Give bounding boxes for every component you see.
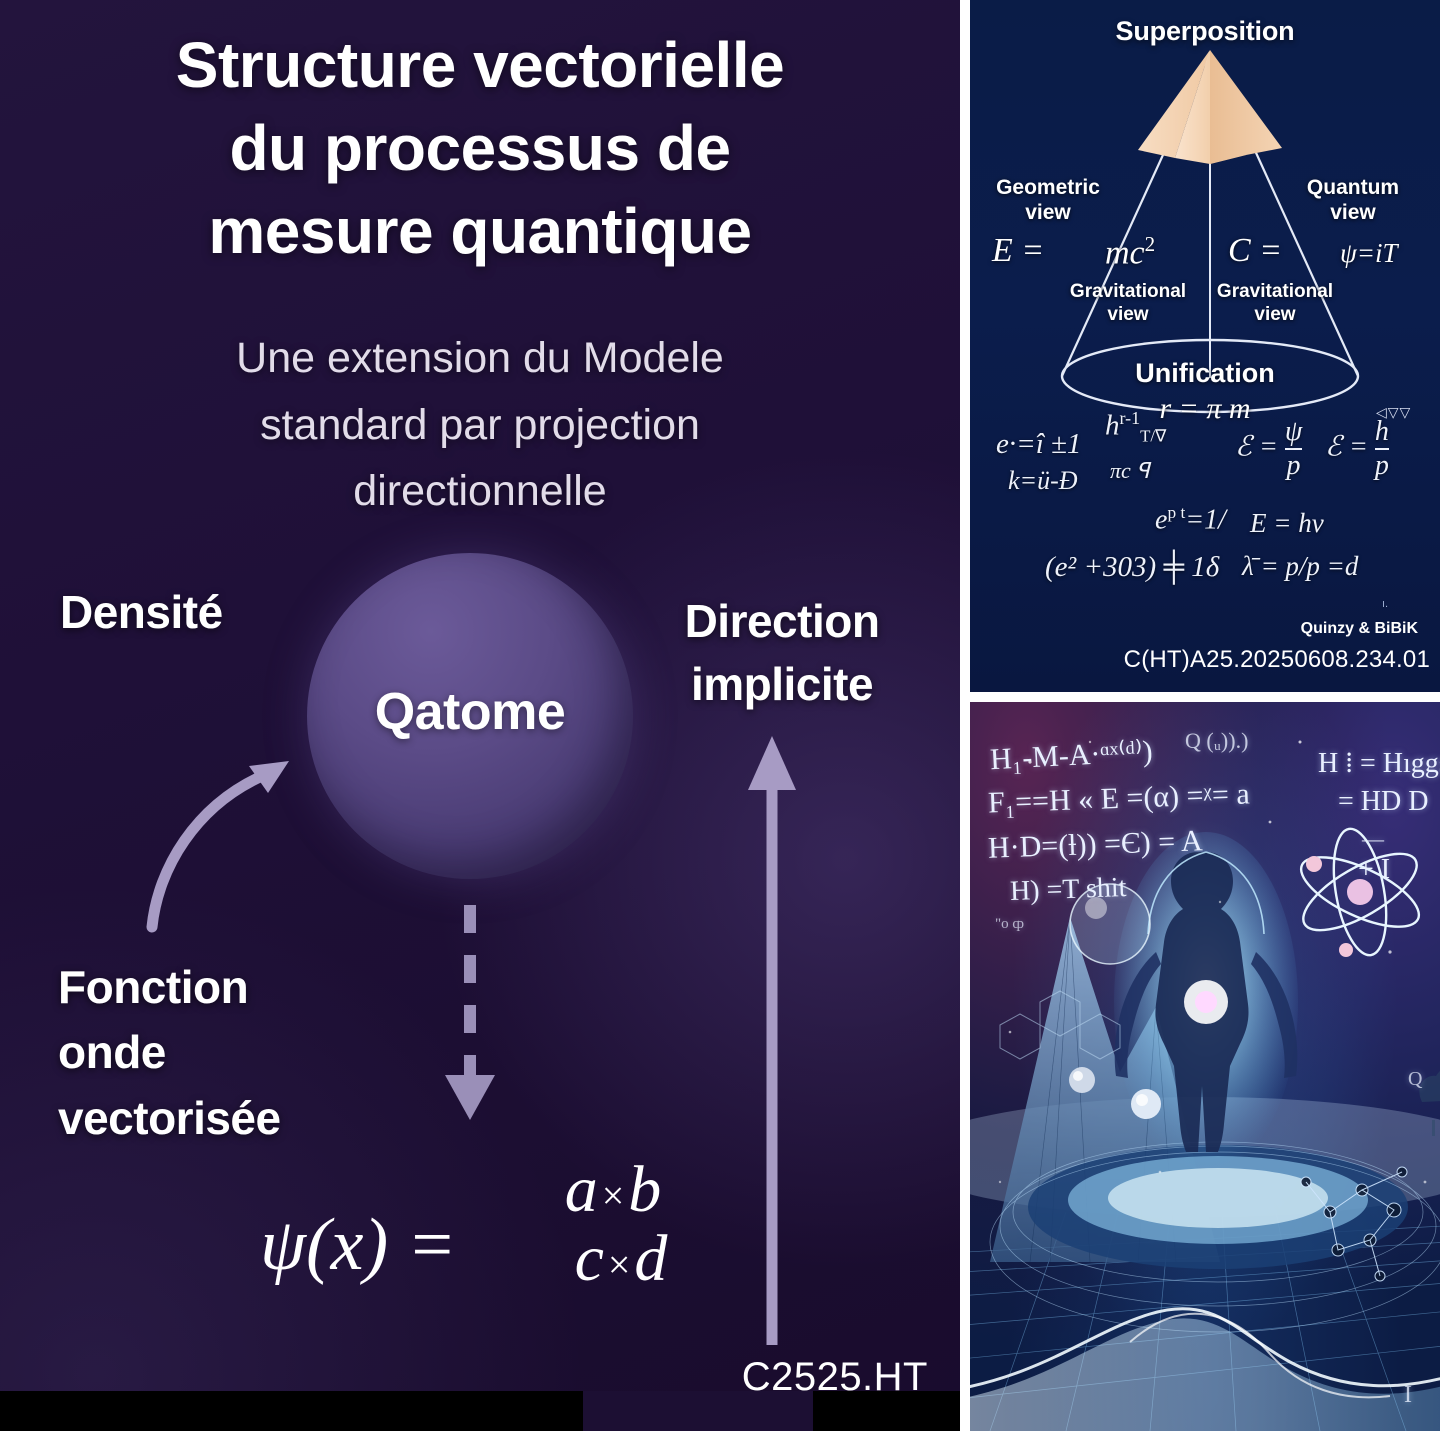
grav-right-line-1: Gravitational [1205,281,1345,304]
equation-5: ep t=1/ [1155,503,1226,536]
equation-1: e·=î ±1 [996,428,1081,461]
bottom-purple-chip [583,1391,813,1431]
equation-psi-iT: ψ=iT [1340,238,1398,269]
geometric-view-label: Geometric view [988,176,1108,226]
wave-function-formula: ψ(x) = a×b c×d [260,1155,780,1345]
equation-3-sup: r-1 [1120,408,1141,428]
quantum-view-line-2: view [1290,201,1416,226]
equation-mc2: mc2 [1105,232,1155,272]
small-tick-icon: ı. [1382,598,1388,610]
formula-den-times: × [604,1242,635,1287]
formula-fraction: a×b c×d [516,1155,726,1294]
formula-num-times: × [598,1173,629,1218]
equation-3: hr-1T/∇ [1105,408,1166,446]
chalk-line-8: — [1362,826,1384,852]
formula-den-d: d [634,1222,667,1295]
equation-5-rest: =1/ [1185,504,1226,535]
chalk-line-10: Q [1408,1068,1422,1091]
equation-mc2-base: mc [1105,234,1145,271]
geometric-view-line-1: Geometric [988,176,1108,201]
quantum-view-line-1: Quantum [1290,176,1416,201]
poster-root: Structure vectorielle du processus de me… [0,0,1440,1431]
bottom-black-bar [0,1391,960,1431]
chalk-line-12: "o ȹ [995,916,1024,933]
equation-E-lhs: E = [992,232,1044,270]
equation-9: E = hν [1250,508,1324,539]
quantum-view-label: Quantum view [1290,176,1416,226]
formula-lhs: ψ(x) = [260,1203,457,1288]
equation-3-sub: T/∇ [1140,426,1166,445]
equation-7-lhs: ℰ = [1235,431,1278,462]
formula-num-b: b [628,1153,661,1226]
vertical-gutter [960,0,970,1431]
formula-num-a: a [565,1153,598,1226]
equation-mc2-exponent: 2 [1145,232,1156,256]
wave-ribbon [970,1309,1440,1431]
formula-denominator: c×d [575,1222,668,1295]
pyramid-apex-icon [1138,50,1282,164]
equation-6: (e² +303) ╪ 1δ [1045,551,1219,584]
right-top-panel: Superposition [970,0,1440,692]
grav-left-line-2: view [1058,304,1198,327]
grav-right-line-2: view [1205,304,1345,327]
equation-5-sup: p t [1167,503,1185,522]
formula-den-c: c [575,1222,604,1295]
equation-7-fraction: ψ p [1285,418,1302,480]
horizontal-gutter [960,692,1440,702]
equation-7: ℰ = ψ p [1235,418,1302,480]
equation-5-base: e [1155,504,1167,535]
chalk-line-9: + I [1358,854,1390,886]
chalk-line-7: = HD D [1338,786,1428,818]
credit-label: Quinzy & BiBiK [1301,620,1418,638]
atom-icon [1292,825,1428,959]
grav-left-line-1: Gravitational [1058,281,1198,304]
equation-8-fraction: h p [1375,418,1389,480]
geometric-view-line-2: view [988,201,1108,226]
equation-8: ℰ = h p [1325,418,1389,480]
document-code-label: C(HT)A25.20250608.234.01 [1124,646,1430,674]
equation-7-denominator: p [1285,452,1302,480]
equation-C-lhs: C = [1228,232,1282,270]
chalk-line-11: I [1404,1382,1412,1409]
gravitational-view-right-label: Gravitational view [1205,281,1345,327]
curved-arrow-icon [152,761,289,927]
equation-10: λ̄ = p/p =d [1242,551,1358,582]
equation-7-numerator: ψ [1285,418,1302,446]
equation-2: k=ü-Ð [1008,466,1078,496]
equation-4: πc ꟼ [1110,458,1150,484]
cone-diagram [970,0,1440,692]
dashed-down-arrow-icon [445,905,495,1120]
luminous-human-figure [1114,832,1298,1172]
chalk-line-4: H) =T shit [1009,872,1126,908]
equation-8-numerator: h [1375,418,1389,446]
equation-8-denominator: p [1375,452,1389,480]
formula-numerator: a×b [565,1153,662,1226]
gravitational-view-left-label: Gravitational view [1058,281,1198,327]
right-bottom-panel: H₁-M-A·ᵅˣ⁽ᵈ⁾) F₁==H « E =(α) =ᵡ= a H·D=(… [970,702,1440,1431]
equation-3-base: h [1105,410,1120,442]
chalk-line-6: H ⁞ = Hıggs [1318,748,1440,780]
equation-8-lhs: ℰ = [1325,431,1368,462]
triangle-marks-icon: ◁▽▽ [1376,404,1411,421]
left-panel: Structure vectorielle du processus de me… [0,0,960,1431]
chalk-line-5: Q (ᵤ)).) [1185,728,1248,754]
unification-label: Unification [970,358,1440,389]
